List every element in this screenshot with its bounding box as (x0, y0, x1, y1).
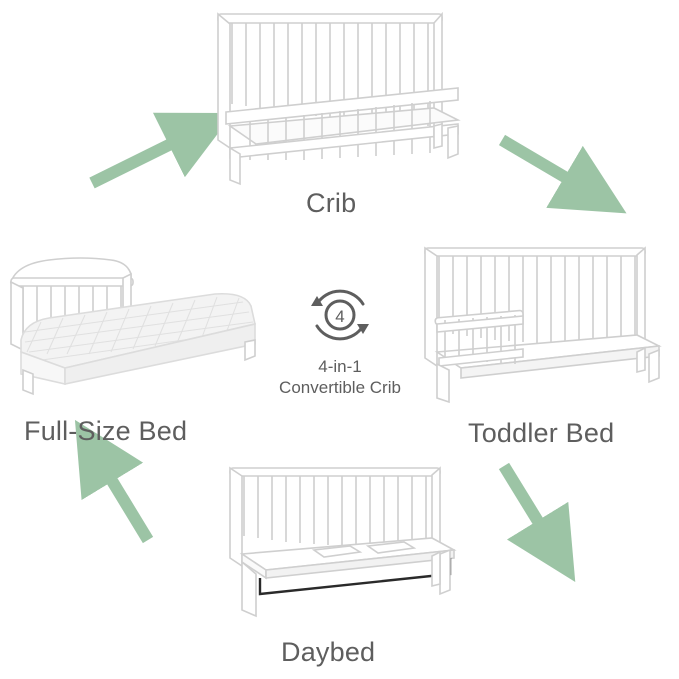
daybed-illustration (218, 462, 458, 624)
badge-number: 4 (335, 307, 344, 326)
toddler-bed-illustration (415, 240, 665, 408)
label-toddler-bed: Toddler Bed (468, 418, 614, 449)
convertible-crib-diagram: 4 4-in-1 Convertible Crib Crib Toddler B… (0, 0, 679, 679)
center-caption-line2: Convertible Crib (252, 377, 428, 398)
arrow-toddler-to-daybed (504, 466, 547, 536)
label-daybed: Daybed (281, 637, 375, 668)
circular-arrows-icon: 4 (300, 282, 380, 348)
label-full-size-bed: Full-Size Bed (24, 416, 187, 447)
center-caption: 4-in-1 Convertible Crib (252, 356, 428, 398)
center-caption-line1: 4-in-1 (252, 356, 428, 377)
arrow-crib-to-toddler (502, 140, 580, 186)
arrow-daybed-to-full (103, 466, 148, 540)
arrow-full-to-crib (92, 137, 185, 183)
label-crib: Crib (306, 188, 356, 219)
full-size-bed-illustration (5, 248, 267, 406)
crib-illustration (190, 8, 480, 186)
